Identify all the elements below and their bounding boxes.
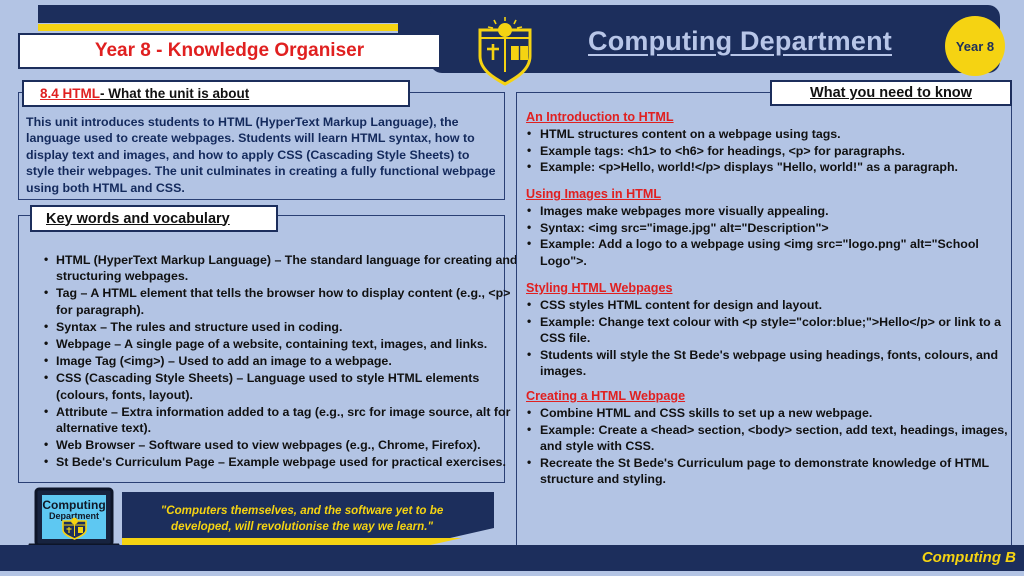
- knowledge-organiser-page: Computing Department Year 8 Year 8 - Kno…: [0, 0, 1024, 576]
- knowledge-organiser-title: Year 8 - Knowledge Organiser: [95, 40, 364, 62]
- list-item: Web Browser – Software used to view webp…: [44, 437, 526, 453]
- unit-about-text: This unit introduces students to HTML (H…: [26, 114, 500, 196]
- unit-code-label: 8.4 HTML: [40, 86, 100, 101]
- list-item: Combine HTML and CSS skills to set up a …: [526, 405, 1008, 421]
- list-item: Attribute – Extra information added to a…: [44, 404, 526, 436]
- section-points: HTML structures content on a webpage usi…: [526, 126, 1008, 176]
- vocabulary-title: Key words and vocabulary: [46, 211, 230, 227]
- section-points: CSS styles HTML content for design and l…: [526, 297, 1008, 379]
- list-item: Images make webpages more visually appea…: [526, 203, 1008, 219]
- section-using-images-in-html: Using Images in HTML Images make webpage…: [526, 187, 1008, 269]
- list-item: Example: Add a logo to a webpage using <…: [526, 236, 1008, 268]
- need-to-know-title: What you need to know: [810, 85, 972, 101]
- list-item: Students will style the St Bede's webpag…: [526, 347, 1008, 379]
- top-navy-bar: [38, 5, 448, 23]
- list-item: Syntax: <img src="image.jpg" alt="Descri…: [526, 220, 1008, 236]
- list-item: Tag – A HTML element that tells the brow…: [44, 285, 526, 317]
- list-item: CSS (Cascading Style Sheets) – Language …: [44, 370, 526, 402]
- section-heading: Creating a HTML Webpage: [526, 389, 1008, 403]
- department-title: Computing Department: [560, 26, 920, 57]
- section-heading: Styling HTML Webpages: [526, 281, 1008, 295]
- list-item: HTML (HyperText Markup Language) – The s…: [44, 252, 526, 284]
- section-points: Images make webpages more visually appea…: [526, 203, 1008, 269]
- vocabulary-list: HTML (HyperText Markup Language) – The s…: [22, 252, 526, 472]
- section-styling-html-webpages: Styling HTML Webpages CSS styles HTML co…: [526, 281, 1008, 380]
- list-item: Example: Create a <head> section, <body>…: [526, 422, 1008, 454]
- section-creating-a-html-webpage: Creating a HTML Webpage Combine HTML and…: [526, 389, 1008, 488]
- section-heading: An Introduction to HTML: [526, 110, 1008, 124]
- school-crest-icon: [476, 16, 534, 86]
- year-badge: Year 8: [945, 16, 1005, 76]
- list-item: HTML structures content on a webpage usi…: [526, 126, 1008, 142]
- vocabulary-title-box: Key words and vocabulary: [30, 205, 278, 232]
- list-item: Example tags: <h1> to <h6> for headings,…: [526, 143, 1008, 159]
- section-an-introduction-to-html: An Introduction to HTML HTML structures …: [526, 110, 1008, 176]
- footer-bar: [0, 545, 1024, 571]
- list-item: Recreate the St Bede's Curriculum page t…: [526, 455, 1008, 487]
- svg-text:Computing: Computing: [42, 498, 105, 512]
- need-to-know-title-box: What you need to know: [770, 80, 1012, 106]
- list-item: CSS styles HTML content for design and l…: [526, 297, 1008, 313]
- section-points: Combine HTML and CSS skills to set up a …: [526, 405, 1008, 487]
- knowledge-organiser-title-box: Year 8 - Knowledge Organiser: [18, 33, 441, 69]
- quote-text: "Computers themselves, and the software …: [132, 503, 472, 535]
- unit-title-suffix: - What the unit is about: [100, 86, 249, 101]
- unit-title-box: 8.4 HTML - What the unit is about: [22, 80, 410, 107]
- list-item: Image Tag (<img>) – Used to add an image…: [44, 353, 526, 369]
- section-heading: Using Images in HTML: [526, 187, 1008, 201]
- list-item: St Bede's Curriculum Page – Example webp…: [44, 454, 526, 470]
- list-item: Syntax – The rules and structure used in…: [44, 319, 526, 335]
- list-item: Webpage – A single page of a website, co…: [44, 336, 526, 352]
- footer-brand: Computing B: [922, 549, 1016, 566]
- list-item: Example: Change text colour with <p styl…: [526, 314, 1008, 346]
- list-item: Example: <p>Hello, world!</p> displays "…: [526, 159, 1008, 175]
